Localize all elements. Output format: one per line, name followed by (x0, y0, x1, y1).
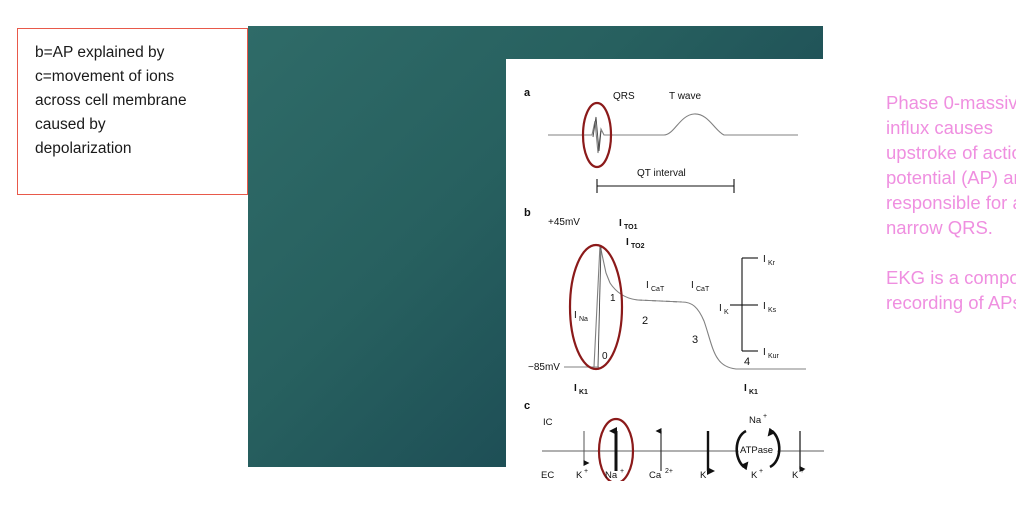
svg-text:I: I (763, 347, 766, 358)
svg-text:+: + (584, 468, 588, 475)
i-kr-label: I Kr (763, 254, 776, 267)
phase-1-label: 1 (610, 293, 616, 304)
svg-text:Na: Na (749, 415, 762, 426)
svg-text:K1: K1 (579, 389, 588, 396)
t-wave-label: T wave (669, 91, 701, 102)
voltage-top-label: +45mV (548, 217, 580, 228)
svg-text:CaT: CaT (696, 286, 710, 293)
i-k-label: I K (719, 303, 729, 316)
i-to2-label: I TO2 (626, 237, 645, 250)
left-note-box[interactable]: b=AP explained by c=movement of ions acr… (17, 28, 248, 195)
left-note-text: b=AP explained by c=movement of ions acr… (35, 41, 240, 161)
svg-text:K: K (724, 309, 729, 316)
svg-text:I: I (574, 383, 577, 394)
svg-text:I: I (763, 254, 766, 265)
extracellular-label: EC (541, 470, 554, 481)
paragraph-phase0-part1: Phase 0-massive (886, 92, 1016, 113)
svg-text:K1: K1 (749, 389, 758, 396)
i-na-label: I Na (574, 310, 588, 323)
svg-text:+: + (708, 468, 712, 475)
svg-text:Na: Na (579, 316, 588, 323)
svg-text:+: + (620, 468, 624, 475)
svg-text:I: I (619, 218, 622, 229)
svg-text:K: K (700, 470, 707, 481)
i-cat-2-label: I CaT (691, 280, 710, 293)
voltage-bottom-label: −85mV (528, 362, 560, 373)
na-ion-label-pump: Na + (749, 413, 767, 426)
qt-interval-bracket (597, 179, 734, 193)
phase-4-label: 4 (744, 356, 750, 368)
slide-body-text: Phase 0-massive na influx causes upstrok… (886, 90, 1016, 315)
k-ion-label-3: K + (792, 468, 804, 481)
svg-text:Kur: Kur (768, 353, 780, 360)
k-ion-label-pump: K + (751, 468, 763, 481)
figure-svg: a QRS T wave QT interval b (506, 59, 854, 481)
panel-a-letter: a (524, 87, 531, 99)
svg-text:Ks: Ks (768, 307, 777, 314)
paragraph-ekg: EKG is a composite recording of APs (886, 265, 1016, 315)
ik-bracket (730, 258, 758, 351)
slide-panel: a QRS T wave QT interval b (248, 26, 823, 467)
svg-text:TO2: TO2 (631, 243, 645, 250)
paragraph-phase0-part2: influx causes upstroke of action potenti… (886, 117, 1016, 238)
svg-text:Na: Na (605, 470, 618, 481)
i-ks-label: I Ks (763, 301, 777, 314)
svg-text:+: + (759, 468, 763, 475)
svg-text:Ca: Ca (649, 470, 662, 481)
i-to1-label: I TO1 (619, 218, 638, 231)
svg-text:I: I (574, 310, 577, 321)
i-kur-label: I Kur (763, 347, 780, 360)
paragraph-phase0: Phase 0-massive na influx causes upstrok… (886, 90, 1016, 240)
svg-text:TO1: TO1 (624, 224, 638, 231)
svg-text:2+: 2+ (665, 468, 673, 475)
svg-text:+: + (800, 468, 804, 475)
intracellular-label: IC (543, 417, 553, 428)
ca-ion-label: Ca 2+ (649, 468, 673, 481)
phase-0-label: 0 (602, 351, 608, 362)
i-k1-right-label: I K1 (744, 383, 758, 396)
i-cat-1-label: I CaT (646, 280, 665, 293)
phase-3-label: 3 (692, 334, 698, 346)
panel-b-letter: b (524, 207, 531, 219)
qt-interval-label: QT interval (637, 168, 686, 179)
phase0-highlight-ellipse (570, 245, 622, 369)
k-ion-label-2: K + (700, 468, 712, 481)
svg-text:K: K (792, 470, 799, 481)
svg-text:I: I (626, 237, 629, 248)
svg-text:+: + (763, 413, 767, 420)
svg-text:K: K (576, 470, 583, 481)
figure-image[interactable]: a QRS T wave QT interval b (506, 59, 854, 481)
svg-text:I: I (691, 280, 694, 291)
svg-text:K: K (751, 470, 758, 481)
svg-text:I: I (646, 280, 649, 291)
qrs-label: QRS (613, 91, 635, 102)
svg-text:CaT: CaT (651, 286, 665, 293)
atpase-label: ATPase (740, 445, 773, 456)
atpase-pump: ATPase (737, 431, 780, 467)
phase-2-label: 2 (642, 315, 648, 327)
svg-text:I: I (719, 303, 722, 314)
panel-c-letter: c (524, 400, 530, 412)
svg-text:I: I (744, 383, 747, 394)
na-ion-label-1: Na + (605, 468, 624, 481)
svg-text:I: I (763, 301, 766, 312)
i-k1-left-label: I K1 (574, 383, 588, 396)
svg-text:Kr: Kr (768, 260, 776, 267)
k-ion-label-1: K + (576, 468, 588, 481)
